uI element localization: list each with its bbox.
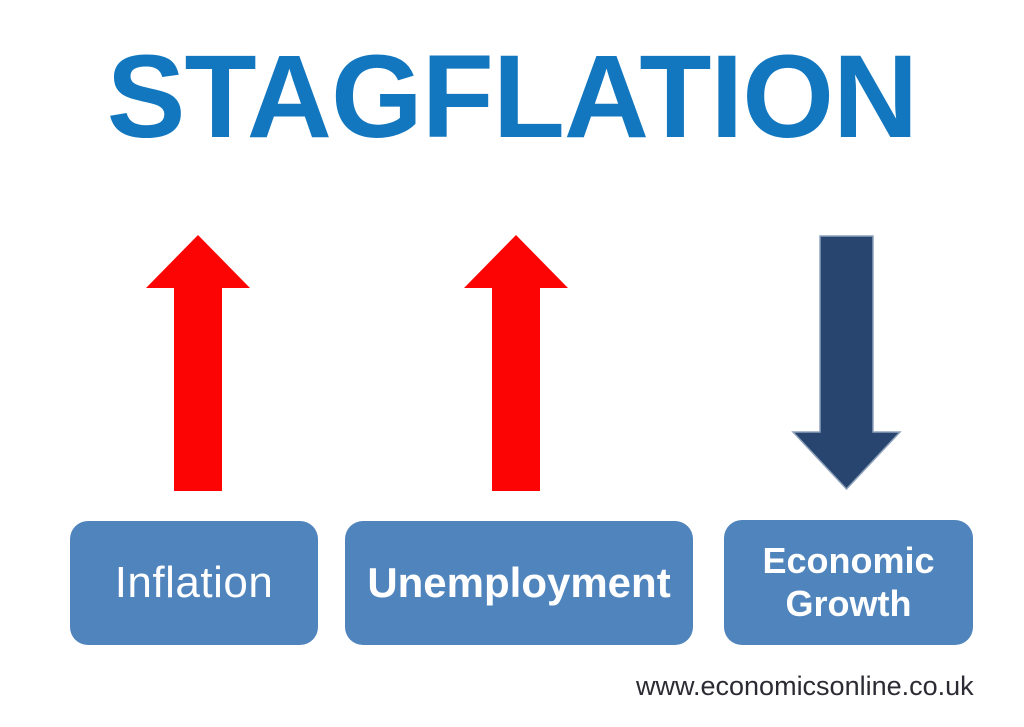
box-unemployment-label: Unemployment (345, 559, 693, 607)
economic-growth-down-arrow (793, 236, 900, 489)
stagflation-diagram: STAGFLATION Inflation Unemployment Econo… (0, 0, 1024, 727)
unemployment-up-arrow (464, 235, 568, 491)
source-website-url: www.economicsonline.co.uk (636, 671, 966, 702)
arrow-down-icon (793, 236, 900, 489)
box-inflation-label: Inflation (70, 558, 318, 608)
box-inflation[interactable]: Inflation (70, 521, 318, 645)
page-title: STAGFLATION (0, 36, 1024, 160)
box-economic-growth-label: Economic Growth (724, 540, 973, 625)
arrow-up-icon (146, 235, 250, 491)
box-economic-growth[interactable]: Economic Growth (724, 520, 973, 645)
arrow-up-icon (464, 235, 568, 491)
box-unemployment[interactable]: Unemployment (345, 521, 693, 645)
inflation-up-arrow (146, 235, 250, 491)
